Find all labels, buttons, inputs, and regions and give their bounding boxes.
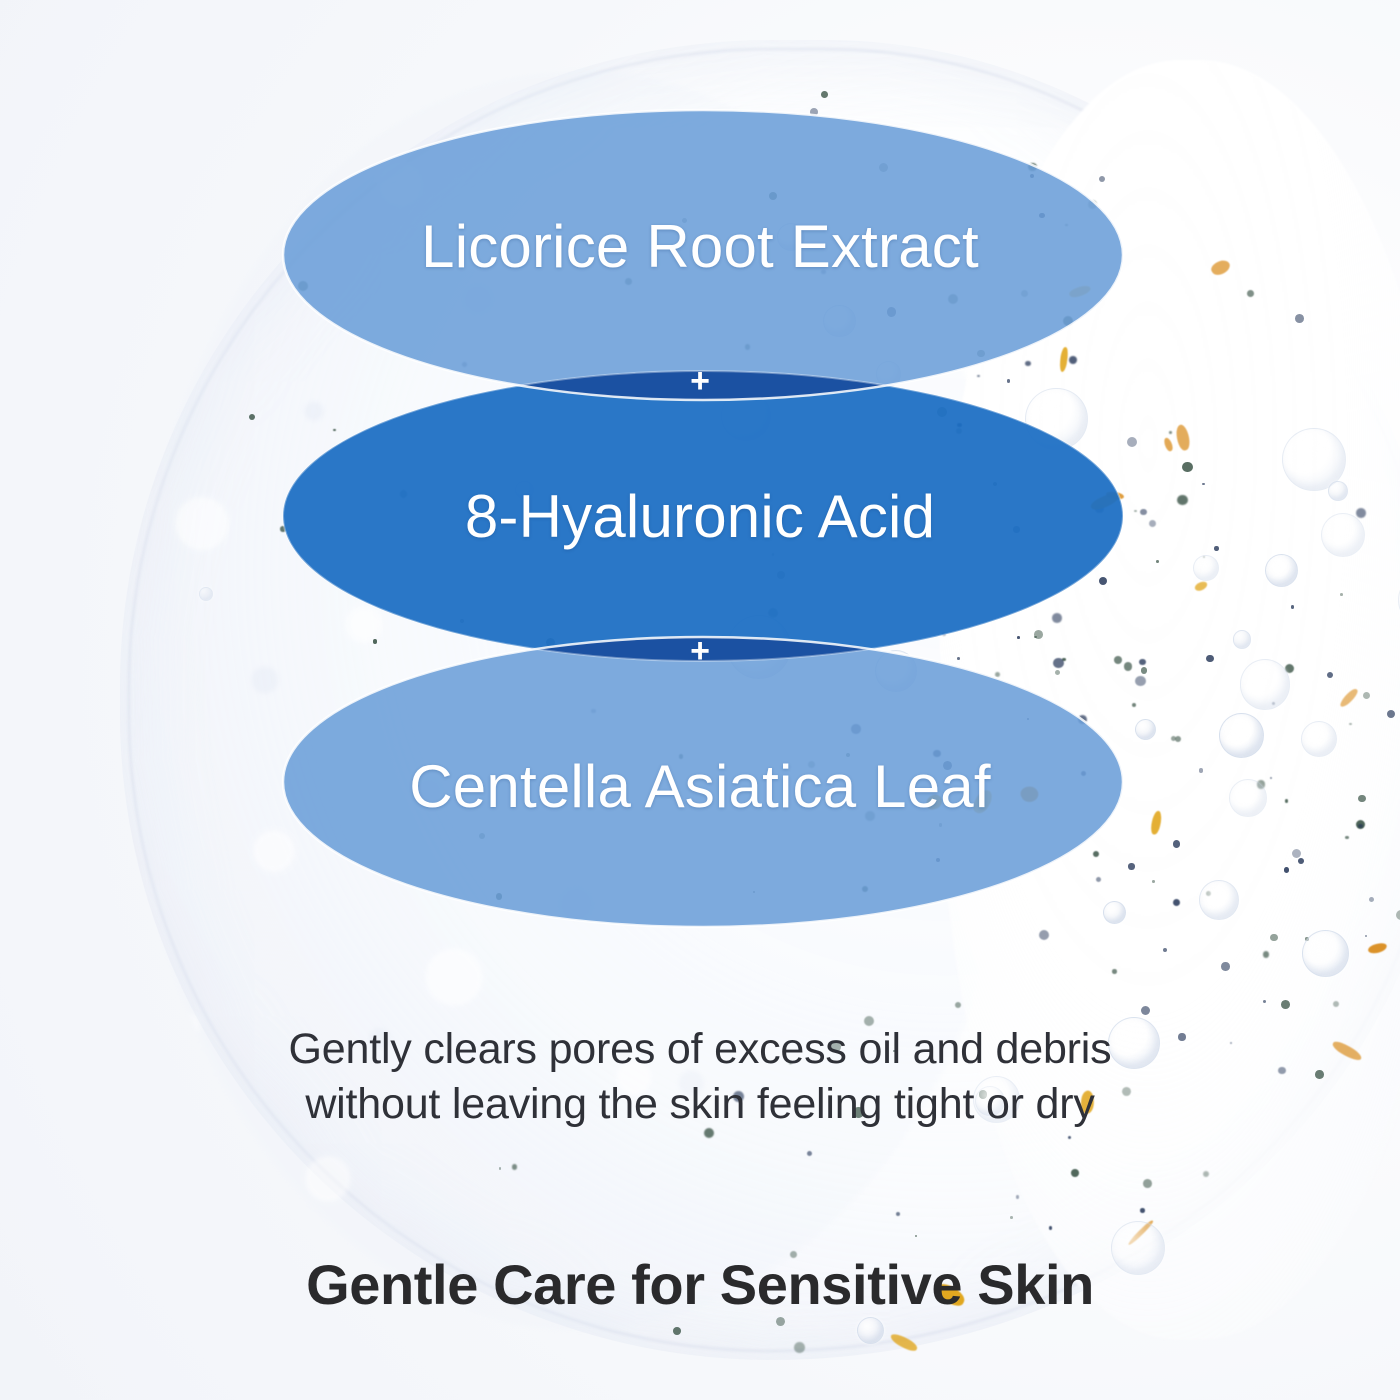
- ingredient-ellipse-stack: Licorice Root Extract + 8-Hyaluronic Aci…: [0, 0, 1400, 1400]
- benefit-line-1: Gently clears pores of excess oil and de…: [0, 1022, 1400, 1077]
- ellipse-licorice: [283, 110, 1123, 400]
- ellipse-hyaluronic: [283, 371, 1123, 661]
- benefit-line-2: without leaving the skin feeling tight o…: [0, 1077, 1400, 1132]
- ellipse-centella: [283, 637, 1123, 927]
- benefit-description: Gently clears pores of excess oil and de…: [0, 1022, 1400, 1132]
- headline-tagline: Gentle Care for Sensitive Skin: [0, 1252, 1400, 1317]
- product-ingredient-infographic: Licorice Root Extract + 8-Hyaluronic Aci…: [0, 0, 1400, 1400]
- ellipse-venn-svg: [0, 0, 1400, 1400]
